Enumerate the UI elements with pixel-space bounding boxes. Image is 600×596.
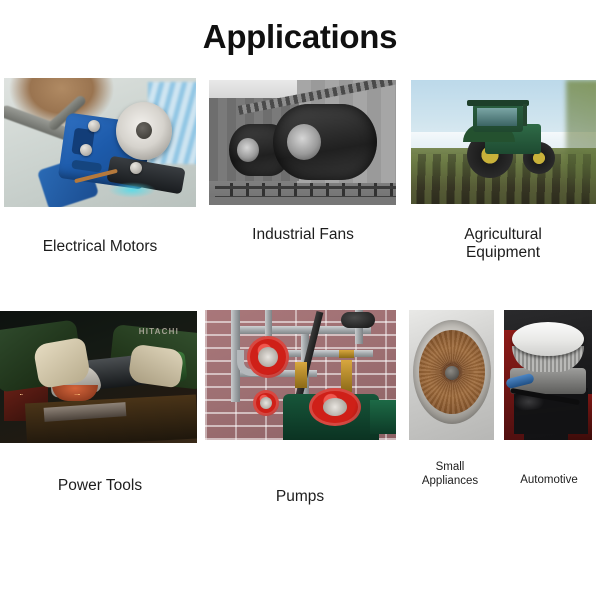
fan-inlet-small: [237, 138, 259, 162]
caption-line-1: Agricultural: [408, 226, 598, 244]
pumps-photo: [205, 310, 396, 440]
grinding-sparks: [20, 373, 80, 395]
tractor-foreground-grass: [566, 80, 596, 204]
caption-agricultural-equipment: Agricultural Equipment: [408, 226, 598, 263]
black-valve: [341, 312, 375, 328]
brass-fitting: [339, 350, 354, 358]
brass-fitting: [295, 362, 307, 388]
grinder-blade-hub: [445, 366, 459, 380]
page-title: Applications: [0, 18, 600, 56]
motor-bolt: [80, 144, 92, 156]
motor-bolt: [88, 120, 100, 132]
industrial-fans-photo: [209, 80, 396, 205]
tool-brand-label: HITACHI: [139, 327, 179, 336]
tractor-cab-glass: [477, 108, 517, 126]
motor-highlight: [108, 182, 156, 198]
small-appliances-photo: [409, 310, 494, 440]
caption-small-appliances: Small Appliances: [404, 461, 496, 488]
power-tools-scene: HITACHI: [0, 311, 197, 443]
caption-automotive: Automotive: [503, 474, 595, 488]
motor-pulley: [116, 102, 172, 160]
agricultural-tractor-photo: [411, 80, 596, 204]
industrial-fans-scene: [209, 80, 396, 205]
caption-line-2: Equipment: [408, 244, 598, 262]
automotive-photo: [504, 310, 592, 440]
chrome-air-cleaner: [512, 322, 584, 356]
power-tools-photo: HITACHI: [0, 311, 197, 443]
electrical-motor-photo: [4, 78, 196, 207]
motor-bolt: [130, 162, 142, 174]
electrical-motor-scene: [4, 78, 196, 207]
pumps-scene: [205, 310, 396, 440]
caption-line-2: Appliances: [404, 475, 496, 489]
red-valve-handwheel-medium: [309, 388, 361, 426]
caption-pumps: Pumps: [205, 488, 395, 506]
caption-power-tools: Power Tools: [0, 477, 200, 495]
fans-ground: [209, 197, 396, 205]
red-valve-handwheel-large: [247, 336, 289, 378]
caption-electrical-motors: Electrical Motors: [0, 238, 200, 256]
caption-line-1: Small: [404, 461, 496, 475]
worker-right-glove: [128, 344, 185, 389]
fan-inlet-large: [287, 124, 321, 160]
pump-body-secondary: [370, 400, 396, 434]
tractor-exhaust: [523, 104, 527, 126]
red-valve-handwheel-small: [253, 390, 279, 416]
brass-fitting: [341, 360, 352, 392]
tractor-cab-roof: [467, 100, 529, 106]
agricultural-tractor-scene: [411, 80, 596, 204]
fans-railing: [215, 186, 396, 189]
caption-industrial-fans: Industrial Fans: [203, 226, 403, 244]
automotive-scene: [504, 310, 592, 440]
small-appliances-scene: [409, 310, 494, 440]
